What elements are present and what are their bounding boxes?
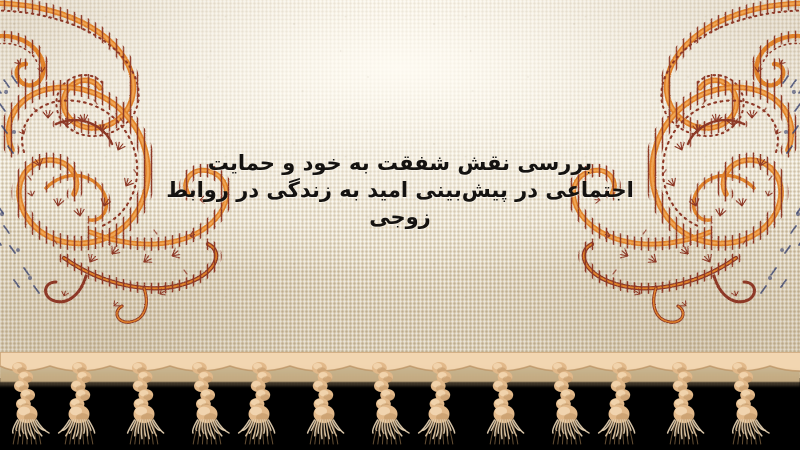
slide-canvas: بررسی نقش شفقت به خود و حمایت اجتماعی در… <box>0 0 800 450</box>
slide-title: بررسی نقش شفقت به خود و حمایت اجتماعی در… <box>0 150 800 231</box>
title-line-2: اجتماعی در پیش‌بینی امید به زندگی در روا… <box>0 177 800 204</box>
tassel <box>732 362 769 444</box>
tassel <box>59 362 95 444</box>
tassel <box>372 362 409 444</box>
tassel <box>668 362 704 444</box>
tassel <box>308 362 344 444</box>
title-line-3: زوجی <box>0 204 800 231</box>
tassel <box>419 362 455 444</box>
tassel <box>552 362 589 444</box>
tassel <box>488 362 524 444</box>
tassel-fringe <box>0 352 800 450</box>
tassel <box>239 362 275 444</box>
title-line-1: بررسی نقش شفقت به خود و حمایت <box>0 150 800 177</box>
tassel <box>192 362 229 444</box>
tassel <box>599 362 635 444</box>
tassel <box>12 362 49 444</box>
tassel <box>128 362 164 444</box>
